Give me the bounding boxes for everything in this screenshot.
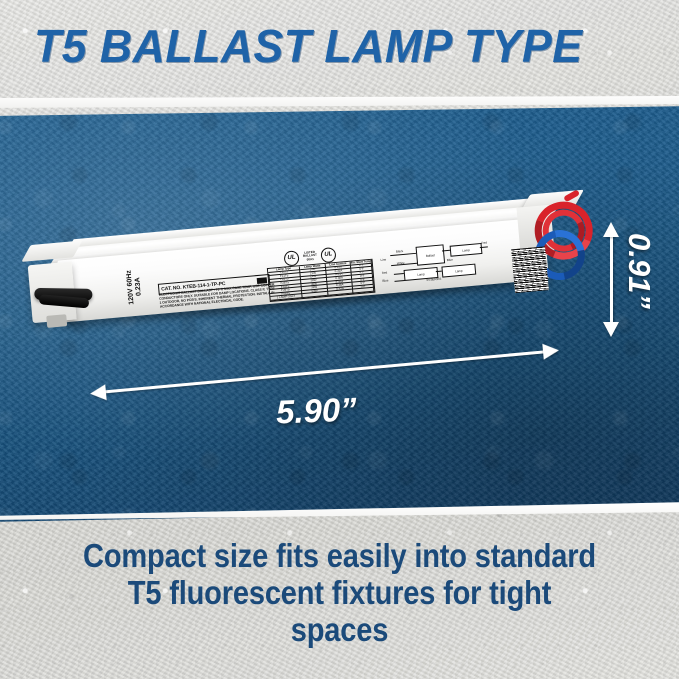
ballast-left-wire-notch — [46, 314, 67, 328]
wiring-label-blue: Blue — [447, 258, 453, 263]
product-barcode — [511, 246, 549, 293]
cert-caption-text: LISTEDBALLAST00A1 — [303, 251, 318, 262]
height-dimension-line — [610, 236, 613, 330]
wiring-lamp-box-3: Lamp — [441, 264, 476, 278]
width-dimension-line — [98, 349, 556, 394]
infographic-canvas: T5 BALLAST LAMP TYPE 120V 60Hz 0.23A — [0, 0, 679, 679]
wiring-series-note: IN SERIES — [426, 277, 441, 282]
width-dimension-label: 5.90” — [275, 390, 357, 431]
height-arrow-down — [603, 322, 619, 337]
ballast-input-rating: 120V 60Hz 0.23A — [110, 262, 160, 312]
height-dimension-label: 0.91” — [621, 233, 657, 303]
csa-certified-icon: UL — [320, 246, 336, 262]
wiring-diagram: Line Black White Ballast Lamp Red Blue R… — [379, 232, 500, 286]
width-dimension: 5.90” — [90, 345, 568, 401]
caption-text: Compact size fits easily into standard T… — [76, 537, 603, 648]
page-title: T5 BALLAST LAMP TYPE — [34, 20, 635, 72]
wiring-label-red-out: Red — [481, 240, 487, 244]
wiring-lamp-box-1: Lamp — [450, 243, 483, 257]
wiring-label-black: Black — [396, 249, 404, 254]
height-arrow-up — [603, 222, 619, 237]
wiring-label-blue-2: Blue — [382, 278, 388, 283]
input-current: 0.23A — [134, 277, 144, 296]
wiring-ballast-box: Ballast — [416, 244, 446, 265]
height-dimension: 0.91” — [600, 230, 670, 338]
width-arrow-right — [542, 342, 559, 359]
ul-listed-icon: UL — [283, 250, 299, 266]
wiring-label-line: Line — [380, 258, 386, 262]
spec-cell — [354, 288, 375, 293]
width-arrow-left — [89, 384, 106, 401]
wiring-label-red: Red — [382, 270, 388, 274]
